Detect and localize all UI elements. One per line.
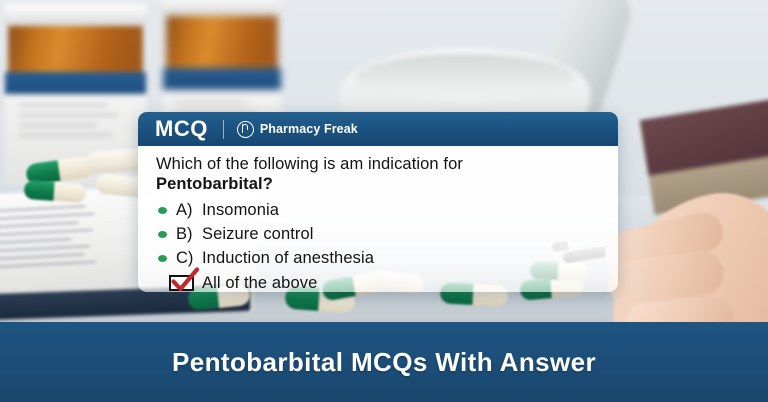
option-a-letter: A)	[176, 201, 202, 220]
option-a[interactable]: A) Insomonia	[156, 198, 602, 222]
bottle-cap	[4, 4, 147, 26]
green-dot-icon	[158, 255, 167, 262]
screenshot-root: MCQ Pharmacy Freak Which of the followin…	[0, 0, 768, 402]
answer-checkbox[interactable]	[169, 275, 194, 291]
mortar-inner	[356, 54, 574, 100]
question-line-1: Which of the following is am indication …	[156, 155, 602, 175]
bottle-cap	[162, 0, 282, 16]
bottle-label-band	[163, 68, 281, 90]
bottle-label-band	[5, 72, 146, 94]
caption-banner: Pentobarbital MCQs With Answer	[0, 322, 768, 402]
answer-label: All of the above	[202, 274, 317, 293]
green-dot-icon	[158, 207, 167, 214]
green-dot-icon	[158, 231, 167, 238]
option-b-letter: B)	[176, 225, 202, 244]
brand-name-label: Pharmacy Freak	[260, 122, 358, 136]
red-check-mark-icon	[170, 268, 200, 292]
brand-block: Pharmacy Freak	[237, 121, 358, 138]
option-c[interactable]: C) Induction of anesthesia	[156, 246, 602, 270]
caption-title: Pentobarbital MCQs With Answer	[172, 347, 596, 378]
option-b-label: Seizure control	[202, 225, 314, 244]
mcq-badge-label: MCQ	[155, 118, 208, 140]
option-all-of-the-above[interactable]: All of the above	[156, 271, 602, 292]
option-a-label: Insomonia	[202, 201, 279, 220]
option-b[interactable]: B) Seizure control	[156, 222, 602, 246]
mcq-card-body: Which of the following is am indication …	[138, 146, 618, 292]
options-list: A) Insomonia B) Seizure control C) Induc…	[156, 198, 602, 292]
mcq-card-header: MCQ Pharmacy Freak	[138, 112, 618, 146]
mcq-card: MCQ Pharmacy Freak Which of the followin…	[138, 112, 618, 292]
option-c-letter: C)	[176, 249, 202, 268]
question-line-2: Pentobarbital?	[156, 175, 602, 195]
header-divider	[223, 120, 224, 139]
pharmacy-freak-logo-icon	[237, 121, 254, 138]
option-c-label: Induction of anesthesia	[202, 249, 374, 268]
